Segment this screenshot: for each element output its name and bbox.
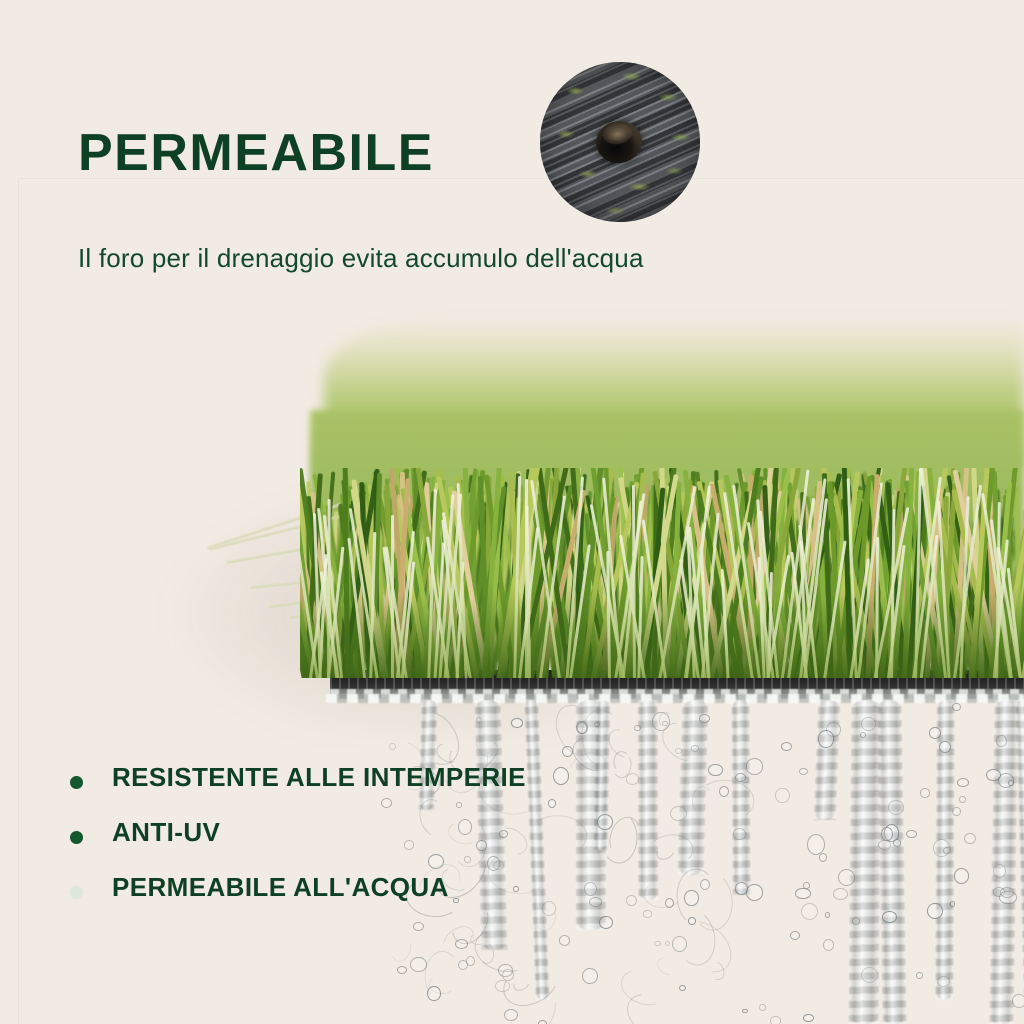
page-subtitle: Il foro per il drenaggio evita accumulo …: [78, 243, 644, 274]
list-item-label: RESISTENTE ALLE INTEMPERIE: [112, 762, 526, 793]
grass-blades: [300, 468, 1024, 678]
list-item: ANTI-UV: [70, 817, 590, 872]
list-item: RESISTENTE ALLE INTEMPERIE: [70, 762, 590, 817]
list-item-label: PERMEABILE ALL'ACQUA: [112, 872, 449, 903]
drainage-hole-closeup-image: [540, 62, 700, 222]
feature-list: RESISTENTE ALLE INTEMPERIE ANTI-UV PERME…: [70, 762, 590, 927]
promo-banner: PERMEABILE Il foro per il drenaggio evit…: [0, 0, 1024, 1024]
bullet-dot-icon: [70, 886, 83, 899]
bullet-dot-icon: [70, 831, 83, 844]
page-title: PERMEABILE: [78, 127, 434, 179]
bullet-dot-icon: [70, 776, 83, 789]
list-item-label: ANTI-UV: [112, 817, 220, 848]
inset-vignette: [540, 62, 700, 222]
artificial-grass-mat-image: [300, 318, 1024, 718]
list-item: PERMEABILE ALL'ACQUA: [70, 872, 590, 927]
